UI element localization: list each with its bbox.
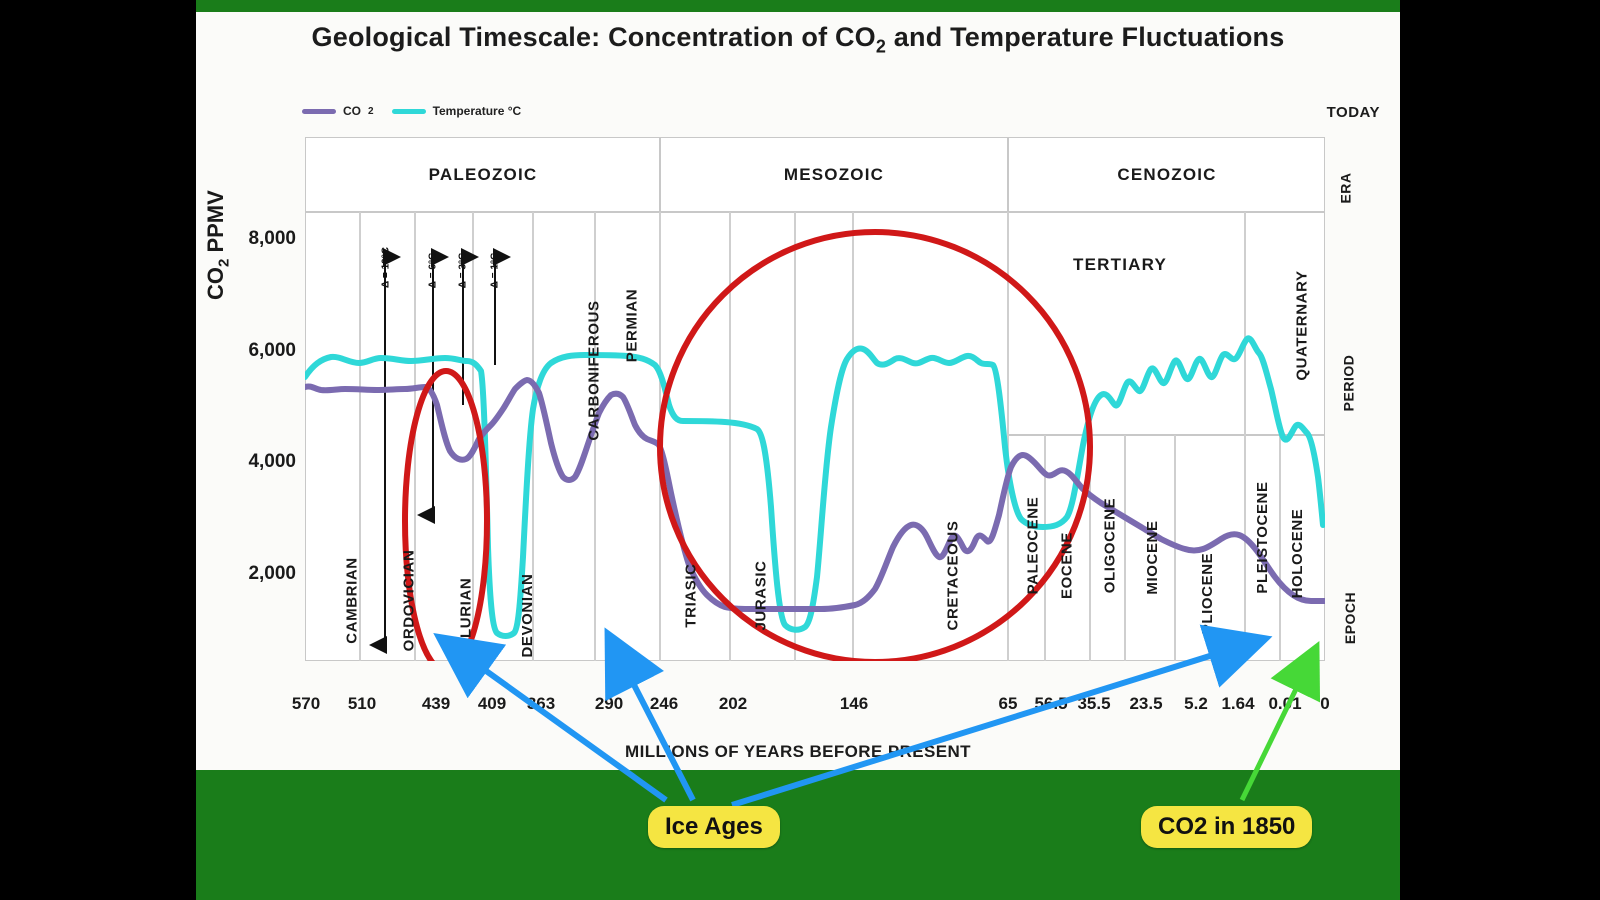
period-label-permian: PERMIAN: [624, 271, 641, 381]
page-title: Geological Timescale: Concentration of C…: [196, 22, 1400, 57]
screenshot-root: Geological Timescale: Concentration of C…: [0, 0, 1600, 900]
epoch-label-pleistocene: PLEISTOCENE: [1254, 460, 1271, 615]
top-green-band: [196, 0, 1400, 12]
y-axis-title-sub: 2: [215, 259, 232, 267]
slide: Geological Timescale: Concentration of C…: [196, 0, 1400, 900]
delta-label-6c: Δ = 6°C: [428, 239, 439, 303]
legend-label-co2: CO: [343, 104, 361, 118]
x-tick-3: 409: [478, 694, 506, 714]
row-label-era: ERA: [1338, 172, 1354, 203]
title-text-post: and Temperature Fluctuations: [886, 22, 1284, 52]
period-label-quaternary: QUATERNARY: [1294, 246, 1311, 406]
epoch-label-eocene: EOCENE: [1059, 511, 1076, 621]
epoch-label-holocene: HOLOCENE: [1289, 486, 1306, 621]
callout-co2-1850[interactable]: CO2 in 1850: [1141, 806, 1312, 848]
era-label-cenozoic: CENOZOIC: [1117, 165, 1216, 185]
x-tick-16: 0: [1320, 694, 1329, 714]
x-tick-4: 363: [527, 694, 555, 714]
y-axis-title-main: CO: [203, 267, 228, 300]
delta-label-10c: Δ = 10°C: [381, 233, 392, 303]
x-tick-10: 56.5: [1034, 694, 1067, 714]
y-tick-2000: 2,000: [206, 563, 296, 585]
x-tick-0: 570: [292, 694, 320, 714]
chart-legend: CO2 Temperature °C: [302, 104, 521, 118]
period-label-tertiary: TERTIARY: [1073, 255, 1167, 275]
y-tick-8000: 8,000: [206, 228, 296, 250]
period-label-jurasic: JURASIC: [753, 546, 770, 646]
y-tick-6000: 6,000: [206, 340, 296, 362]
x-tick-15: 0.01: [1268, 694, 1301, 714]
legend-label-temperature: Temperature °C: [433, 104, 522, 118]
legend-swatch-temperature: [392, 109, 426, 114]
x-tick-14: 1.64: [1221, 694, 1254, 714]
period-label-cambrian: CAMBRIAN: [344, 541, 361, 661]
period-label-triasic: TRIASIC: [683, 546, 700, 646]
x-tick-11: 35.5: [1077, 694, 1110, 714]
title-text-pre: Geological Timescale: Concentration of C…: [312, 22, 876, 52]
period-label-devonian: DEVONIAN: [519, 558, 536, 673]
epoch-label-miocene: MIOCENE: [1144, 500, 1161, 615]
callout-ice-ages[interactable]: Ice Ages: [648, 806, 780, 848]
today-label: TODAY: [1327, 104, 1380, 121]
legend-item-temperature: Temperature °C: [392, 104, 522, 118]
row-label-epoch: EPOCH: [1342, 592, 1358, 644]
period-label-carboniferous: CARBONIFEROUS: [586, 286, 603, 456]
delta-label-1c: Δ = 1°C: [490, 239, 501, 303]
x-tick-5: 290: [595, 694, 623, 714]
x-tick-1: 510: [348, 694, 376, 714]
chart-plot-area: PALEOZOIC MESOZOIC CENOZOIC CAMBRIAN ORD…: [305, 137, 1325, 661]
legend-label-co2-sub: 2: [368, 106, 374, 117]
y-tick-4000: 4,000: [206, 451, 296, 473]
x-tick-8: 146: [840, 694, 868, 714]
x-tick-6: 246: [650, 694, 678, 714]
period-label-silurian: SILURIAN: [458, 561, 475, 671]
legend-item-co2: CO2: [302, 104, 374, 118]
epoch-label-oligocene: OLIGOCENE: [1102, 481, 1119, 611]
delta-label-3c: Δ = 3°C: [458, 239, 469, 303]
era-label-paleozoic: PALEOZOIC: [429, 165, 538, 185]
epoch-label-pliocene: PLIOCENE: [1199, 536, 1216, 651]
era-label-mesozoic: MESOZOIC: [784, 165, 884, 185]
x-tick-7: 202: [719, 694, 747, 714]
period-label-ordovician: ORDOVICIAN: [401, 541, 418, 661]
title-subscript: 2: [876, 36, 886, 56]
x-tick-13: 5.2: [1184, 694, 1208, 714]
row-label-period: PERIOD: [1340, 355, 1356, 412]
x-tick-9: 65: [999, 694, 1018, 714]
period-label-cretaceous: CRETACEOUS: [945, 506, 962, 646]
x-axis-title: MILLIONS OF YEARS BEFORE PRESENT: [196, 742, 1400, 762]
legend-swatch-co2: [302, 109, 336, 114]
x-tick-2: 439: [422, 694, 450, 714]
epoch-label-paleocene: PALEOCENE: [1025, 476, 1042, 616]
x-tick-12: 23.5: [1129, 694, 1162, 714]
